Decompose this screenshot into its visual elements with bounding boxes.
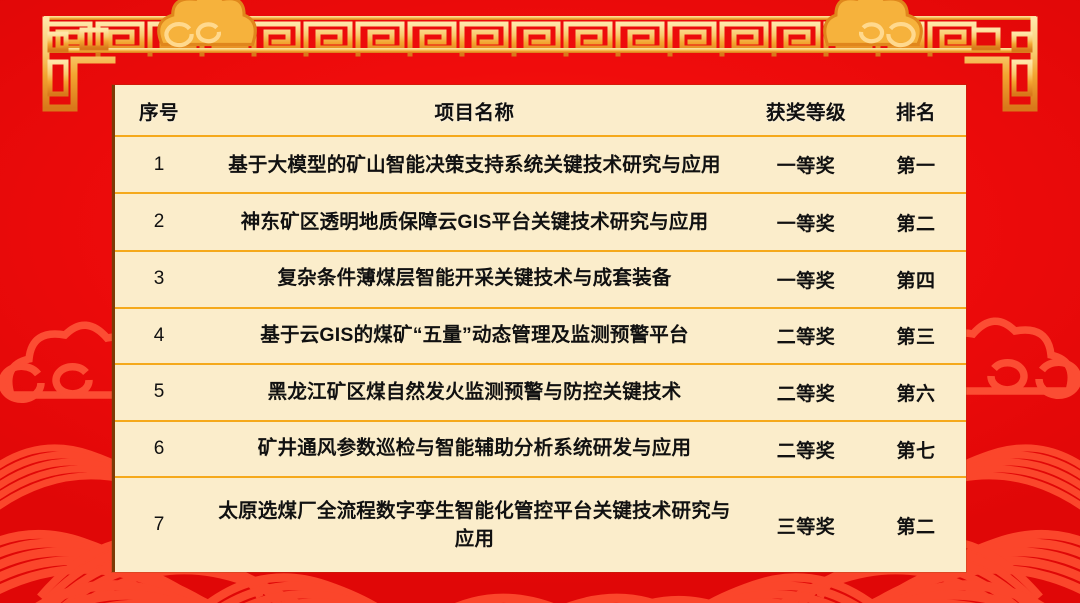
cell-index: 5 xyxy=(115,364,203,421)
cell-project-name: 矿井通风参数巡检与智能辅助分析系统研发与应用 xyxy=(203,421,746,478)
table-row: 2 神东矿区透明地质保障云GIS平台关键技术研究与应用 一等奖 第二 xyxy=(115,193,966,250)
cell-award-level: 二等奖 xyxy=(746,364,866,421)
cell-rank: 第六 xyxy=(866,364,966,421)
table-row: 5 黑龙江矿区煤自然发火监测预警与防控关键技术 二等奖 第六 xyxy=(115,364,966,421)
table-row: 4 基于云GIS的煤矿“五量”动态管理及监测预警平台 二等奖 第三 xyxy=(115,308,966,365)
cell-award-level: 二等奖 xyxy=(746,421,866,478)
table: 序号 项目名称 获奖等级 排名 1 基于大模型的矿山智能决策支持系统关键技术研究… xyxy=(115,85,966,572)
column-header-index: 序号 xyxy=(115,85,203,136)
cell-project-name: 神东矿区透明地质保障云GIS平台关键技术研究与应用 xyxy=(203,193,746,250)
cell-index: 7 xyxy=(115,477,203,572)
table-row: 3 复杂条件薄煤层智能开采关键技术与成套装备 一等奖 第四 xyxy=(115,251,966,308)
cell-index: 3 xyxy=(115,251,203,308)
cell-rank: 第一 xyxy=(866,136,966,193)
cell-index: 2 xyxy=(115,193,203,250)
cell-project-name: 太原选煤厂全流程数字孪生智能化管控平台关键技术研究与应用 xyxy=(203,477,746,572)
cell-index: 6 xyxy=(115,421,203,478)
cell-project-name: 基于大模型的矿山智能决策支持系统关键技术研究与应用 xyxy=(203,136,746,193)
table-row: 6 矿井通风参数巡检与智能辅助分析系统研发与应用 二等奖 第七 xyxy=(115,421,966,478)
cell-project-name: 基于云GIS的煤矿“五量”动态管理及监测预警平台 xyxy=(203,308,746,365)
table-header-row: 序号 项目名称 获奖等级 排名 xyxy=(115,85,966,136)
cell-project-name: 黑龙江矿区煤自然发火监测预警与防控关键技术 xyxy=(203,364,746,421)
award-table: 序号 项目名称 获奖等级 排名 1 基于大模型的矿山智能决策支持系统关键技术研究… xyxy=(112,85,966,572)
cell-award-level: 一等奖 xyxy=(746,136,866,193)
table-row: 7 太原选煤厂全流程数字孪生智能化管控平台关键技术研究与应用 三等奖 第二 xyxy=(115,477,966,572)
cell-award-level: 一等奖 xyxy=(746,251,866,308)
cell-award-level: 二等奖 xyxy=(746,308,866,365)
cell-index: 4 xyxy=(115,308,203,365)
cell-rank: 第四 xyxy=(866,251,966,308)
cell-award-level: 一等奖 xyxy=(746,193,866,250)
column-header-rank: 排名 xyxy=(866,85,966,136)
cell-award-level: 三等奖 xyxy=(746,477,866,572)
cell-rank: 第三 xyxy=(866,308,966,365)
cell-project-name: 复杂条件薄煤层智能开采关键技术与成套装备 xyxy=(203,251,746,308)
cell-rank: 第二 xyxy=(866,477,966,572)
cell-rank: 第二 xyxy=(866,193,966,250)
table-body: 1 基于大模型的矿山智能决策支持系统关键技术研究与应用 一等奖 第一 2 神东矿… xyxy=(115,136,966,572)
column-header-name: 项目名称 xyxy=(203,85,746,136)
cell-rank: 第七 xyxy=(866,421,966,478)
column-header-level: 获奖等级 xyxy=(746,85,866,136)
cell-index: 1 xyxy=(115,136,203,193)
table-row: 1 基于大模型的矿山智能决策支持系统关键技术研究与应用 一等奖 第一 xyxy=(115,136,966,193)
